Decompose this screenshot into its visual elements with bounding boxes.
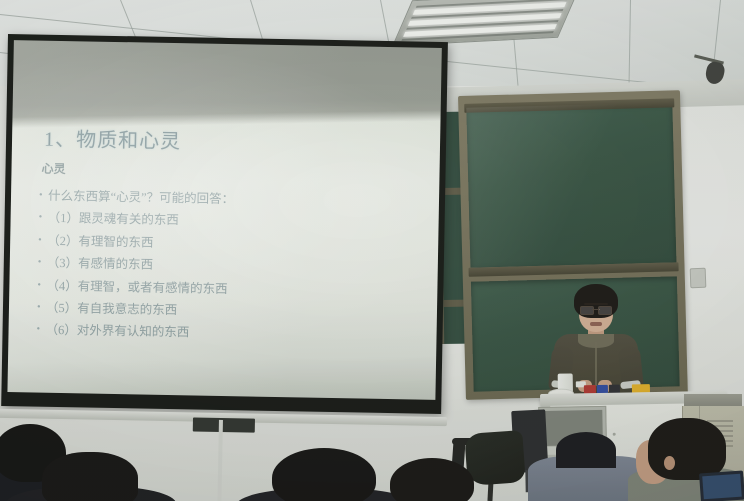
audience-member-head [648, 418, 726, 480]
slide-bullet-text: （1）跟灵魂有关的东西 [47, 211, 179, 228]
slide-bullet-text: （5）有自我意志的东西 [46, 301, 178, 318]
slide-bullet: • （3）有感情的东西 [38, 256, 420, 277]
presentation-slide: 1、物质和心灵 心灵 • 什么东西算“心灵”？可能的回答： • （1）跟灵魂有关… [8, 100, 441, 382]
slide-bullet-text: （2）有理智的东西 [47, 234, 154, 250]
bullet-marker-icon: • [37, 278, 46, 291]
screen-pull-tab[interactable] [193, 417, 255, 432]
bullet-marker-icon: • [39, 211, 48, 224]
wall-socket [690, 268, 707, 289]
slide-title: 1、物质和心灵 [44, 123, 422, 159]
laptop [699, 471, 744, 501]
slide-bullet: • （6）对外界有认知的东西 [36, 323, 418, 344]
ceiling-light-fixture [392, 0, 578, 46]
bullet-marker-icon: • [37, 300, 46, 313]
presenter-brow [584, 303, 608, 305]
bullet-marker-icon: • [39, 189, 48, 202]
presenter-zipper [595, 342, 597, 386]
draped-coat [464, 430, 525, 486]
slide-bullet: • （4）有理智，或者有感情的东西 [37, 278, 419, 299]
audience-member-head [556, 432, 616, 468]
slide-bullet-text: （6）对外界有认知的东西 [45, 323, 189, 340]
glasses-icon [580, 306, 612, 313]
slide-bullet: • （1）跟灵魂有关的东西 [38, 211, 420, 232]
bullet-marker-icon: • [36, 323, 45, 336]
audience-member-head [390, 458, 474, 501]
slide-subtitle: 心灵 [41, 160, 421, 184]
bullet-marker-icon: • [38, 233, 47, 246]
audience-member-ear [664, 456, 675, 470]
slide-bullet: • （2）有理智的东西 [38, 233, 420, 254]
bullet-marker-icon: • [38, 256, 47, 269]
audience-member-head [272, 448, 376, 501]
slide-bullet-text: （4）有理智，或者有感情的东西 [46, 278, 227, 296]
lecture-photo-scene: 1、物质和心灵 心灵 • 什么东西算“心灵”？可能的回答： • （1）跟灵魂有关… [0, 0, 744, 501]
slide-bullet: • （5）有自我意志的东西 [37, 300, 419, 321]
screen-surface: 1、物质和心灵 心灵 • 什么东西算“心灵”？可能的回答： • （1）跟灵魂有关… [7, 40, 441, 400]
slide-bullet-text: 什么东西算“心灵”？可能的回答： [48, 189, 234, 207]
slide-bullet: • 什么东西算“心灵”？可能的回答： [39, 189, 421, 210]
audience-member-head [42, 452, 138, 501]
projector-screen: 1、物质和心灵 心灵 • 什么东西算“心灵”？可能的回答： • （1）跟灵魂有关… [1, 34, 448, 414]
presenter-mouth [590, 322, 602, 326]
blackboard-panel-upper [466, 102, 676, 267]
slide-bullet-text: （3）有感情的东西 [47, 256, 154, 272]
